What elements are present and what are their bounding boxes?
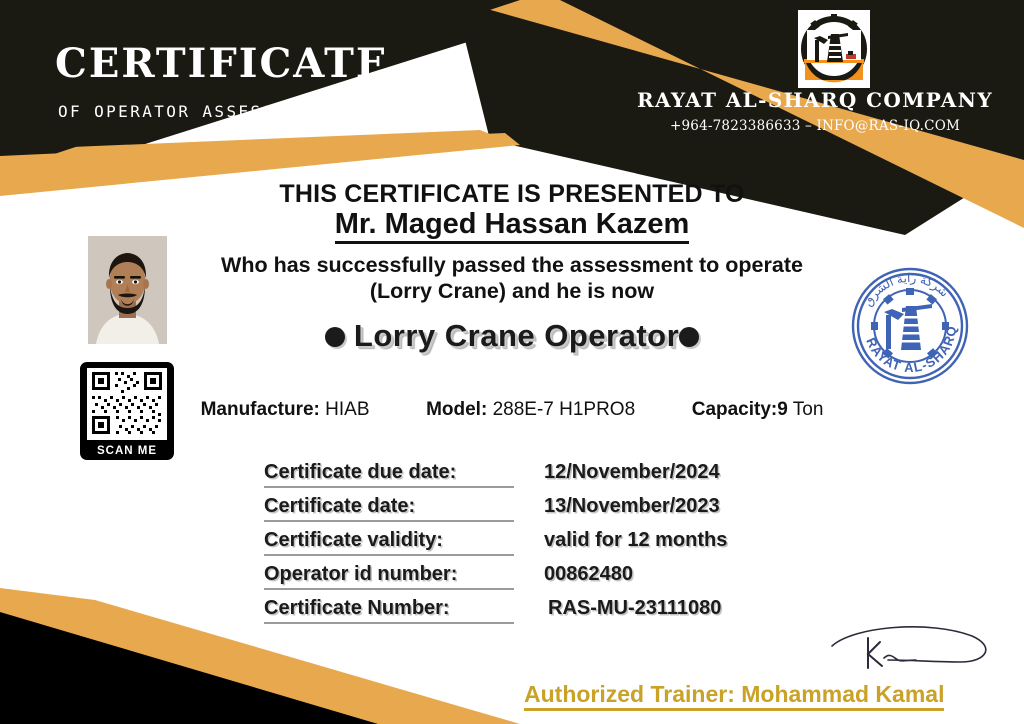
authorized-trainer: Authorized Trainer: Mohammad Kamal [524, 681, 944, 708]
capacity-label: Capacity:9 [692, 399, 788, 420]
table-row: Operator id number:00862480 [264, 557, 824, 591]
role-text: Lorry Crane Operator [354, 318, 679, 353]
role-headline-inner: Lorry Crane Operator [325, 318, 699, 354]
detail-value: 12/November/2024 [544, 455, 720, 489]
certificate-details: Certificate due date:12/November/2024 Ce… [264, 455, 824, 625]
qr-code-label: SCAN ME [80, 445, 174, 457]
company-name: RAYAT AL-SHARQ COMPANY [620, 88, 1010, 112]
detail-label: Certificate due date: [264, 458, 514, 488]
qr-code-icon [87, 368, 167, 440]
recipient-name-text: Mr. Maged Hassan Kazem [335, 208, 690, 244]
detail-value: 00862480 [544, 557, 633, 591]
model-label: Model: [426, 399, 487, 420]
signature-icon [820, 618, 1010, 680]
table-row: Certificate validity:valid for 12 months [264, 523, 824, 557]
table-row: Certificate date:13/November/2023 [264, 489, 824, 523]
presented-to-label: THIS CERTIFICATE IS PRESENTED TO [0, 180, 1024, 209]
company-logo-icon [798, 10, 870, 88]
table-row: Certificate due date:12/November/2024 [264, 455, 824, 489]
detail-label: Certificate Number: [264, 594, 514, 624]
avatar [88, 236, 167, 344]
qr-code[interactable]: SCAN ME [80, 362, 174, 460]
company-seal-stamp: RAYAT AL-SHARQ Co. شركة راية الشرق [846, 262, 974, 390]
detail-value: RAS-MU-23111080 [548, 591, 721, 625]
page-subtitle: OF OPERATOR ASSESSMENT [58, 102, 323, 121]
table-row: Certificate Number:RAS-MU-23111080 [264, 591, 824, 625]
company-contact: +964-7823386633 – INFO@RAS-IQ.COM [620, 118, 1010, 134]
manufacture-value: HIAB [325, 399, 369, 420]
authorized-trainer-text: Authorized Trainer: Mohammad Kamal [524, 681, 944, 711]
bullet-dot-left-icon [325, 327, 345, 347]
manufacture-label: Manufacture: [201, 399, 320, 420]
bullet-dot-right-icon [679, 327, 699, 347]
detail-label: Operator id number: [264, 560, 514, 590]
certificate-page: CERTIFICATE OF OPERATOR ASSESSMENT [0, 0, 1024, 724]
capacity-value: Ton [793, 399, 824, 420]
detail-value: 13/November/2023 [544, 489, 720, 523]
detail-label: Certificate validity: [264, 526, 514, 556]
detail-label: Certificate date: [264, 492, 514, 522]
page-title: CERTIFICATE [55, 40, 388, 87]
detail-value: valid for 12 months [544, 523, 727, 557]
model-value: 288E-7 H1PRO8 [493, 399, 636, 420]
